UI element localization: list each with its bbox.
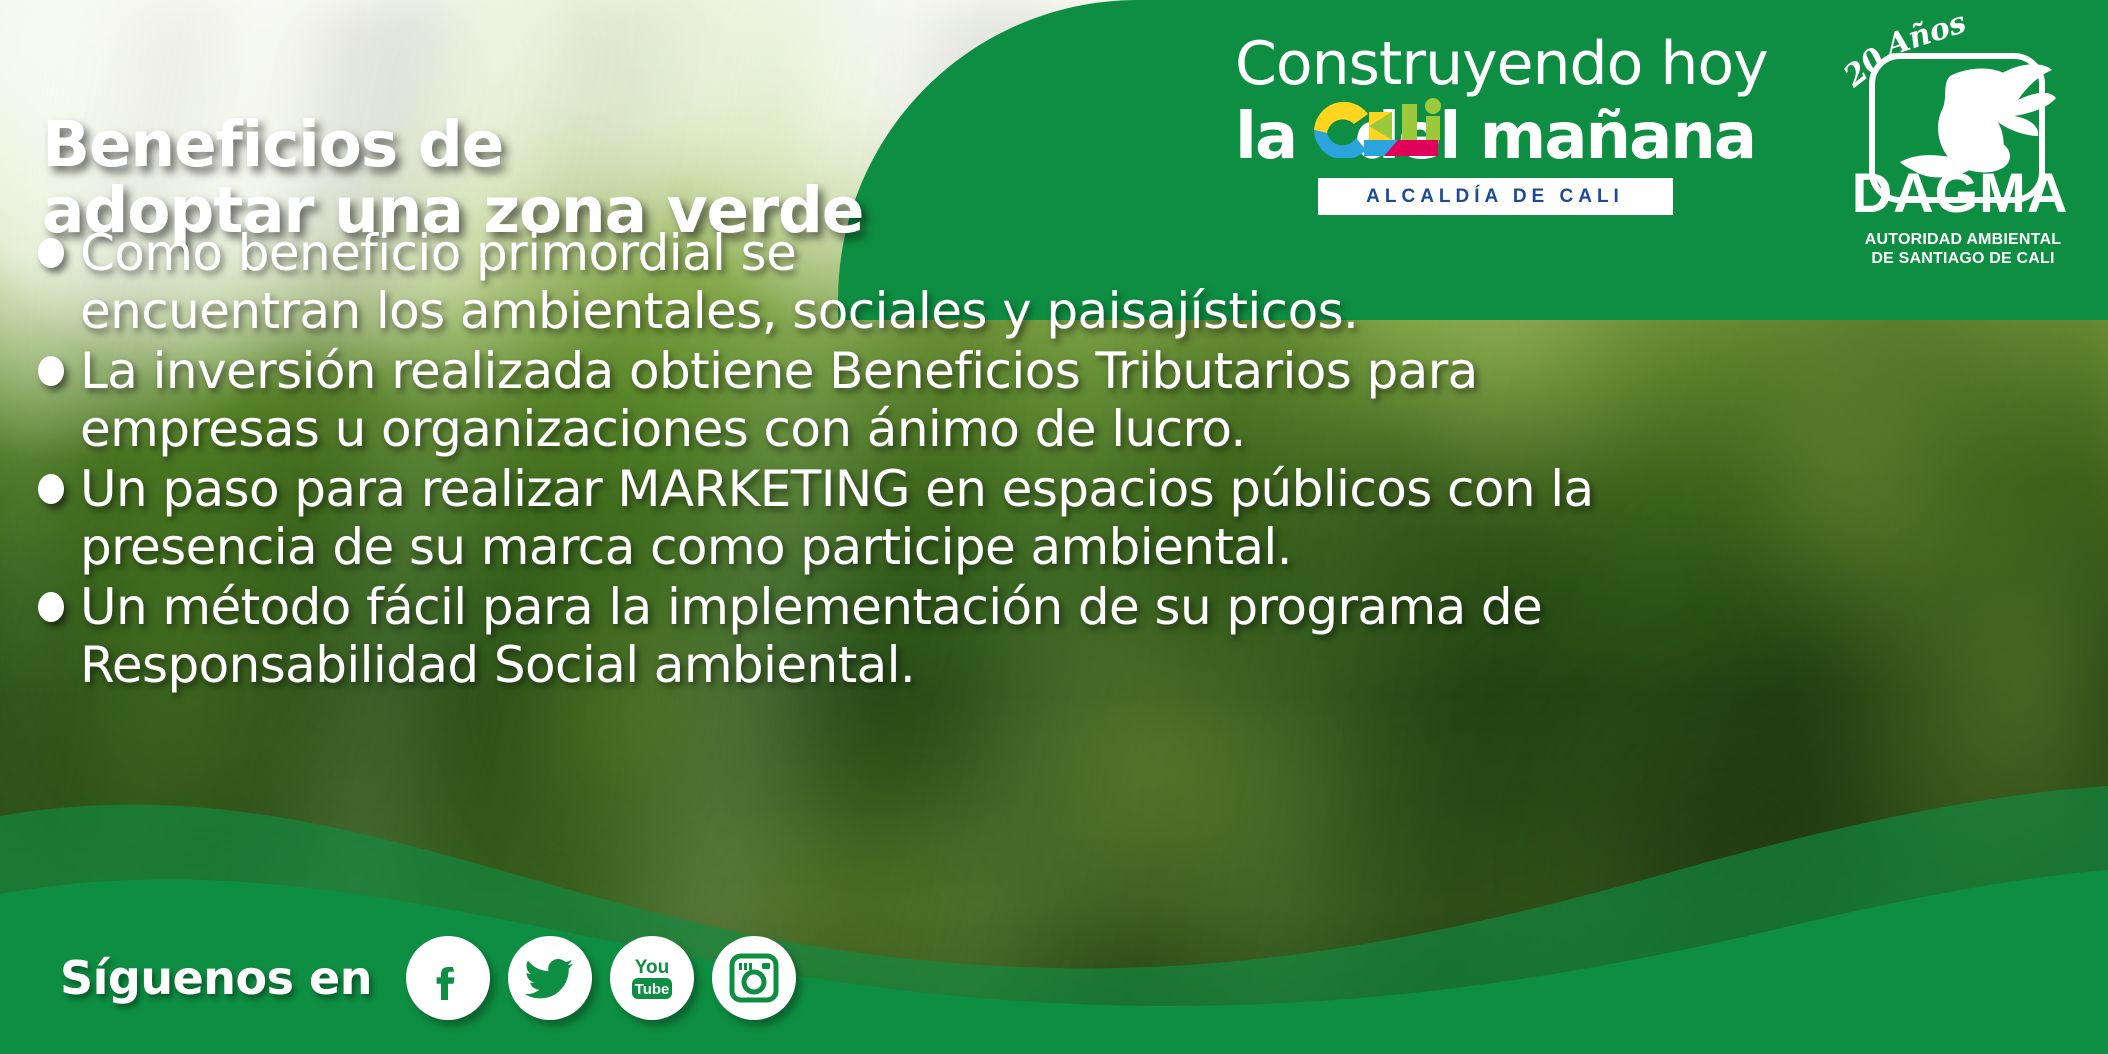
bullet-dot-icon: [38, 238, 64, 268]
bullet-dot-icon: [38, 592, 64, 622]
follow-us-label: Síguenos en: [60, 951, 372, 1005]
list-item-text: Como beneficio primordial se encuentran …: [80, 224, 1358, 340]
social-link-facebook[interactable]: [406, 936, 490, 1020]
benefits-list: Como beneficio primordial se encuentran …: [38, 224, 2048, 696]
social-link-instagram[interactable]: [712, 936, 796, 1020]
bullet-dot-icon: [38, 356, 64, 386]
instagram-icon: [729, 953, 779, 1003]
list-item: La inversión realizada obtiene Beneficio…: [38, 342, 2048, 458]
list-item: Como beneficio primordial se encuentran …: [38, 224, 2048, 340]
social-link-twitter[interactable]: [508, 936, 592, 1020]
svg-text:Tube: Tube: [635, 981, 670, 998]
list-item: Un método fácil para la implementación d…: [38, 578, 2048, 694]
social-links: You Tube: [406, 936, 796, 1020]
list-item-text: La inversión realizada obtiene Beneficio…: [80, 342, 1478, 458]
footer-social-bar: Síguenos en You: [60, 936, 796, 1020]
svg-text:You: You: [635, 957, 669, 978]
list-item-text: Un método fácil para la implementación d…: [80, 578, 1542, 694]
list-item-text: Un paso para realizar MARKETING en espac…: [80, 460, 1594, 576]
twitter-icon: [524, 952, 576, 1004]
youtube-icon: You Tube: [626, 953, 678, 1003]
social-link-youtube[interactable]: You Tube: [610, 936, 694, 1020]
bullet-dot-icon: [38, 474, 64, 504]
poster-canvas: Construyendo hoy la: [0, 0, 2108, 1054]
list-item: Un paso para realizar MARKETING en espac…: [38, 460, 2048, 576]
facebook-icon: [424, 954, 472, 1002]
